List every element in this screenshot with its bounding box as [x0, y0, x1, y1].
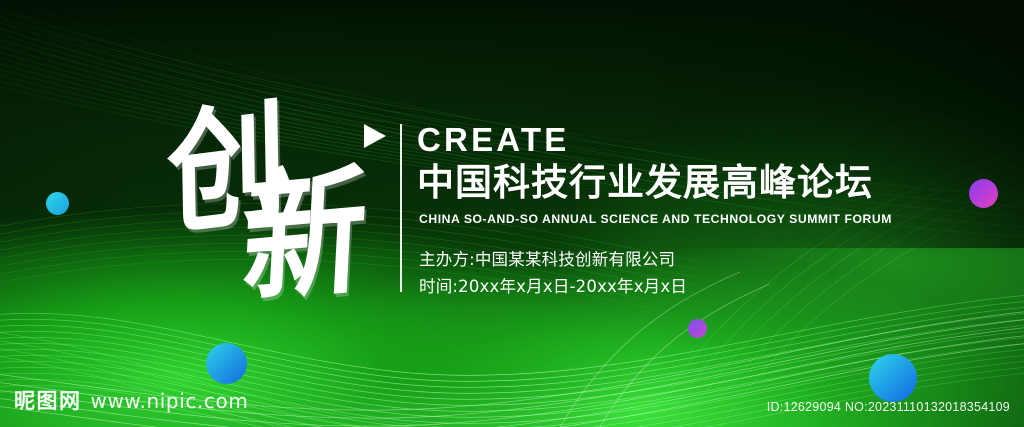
watermark-site-name: 昵图网	[14, 385, 82, 415]
english-subtitle: CHINA SO-AND-SO ANNUAL SCIENCE AND TECHN…	[419, 212, 977, 227]
watermark-url: www.nipic.com	[91, 389, 249, 413]
asset-id-label: ID:12629094 NO:20231110132018354109	[767, 400, 1010, 414]
calligraphy-char-xin: 新	[240, 159, 371, 310]
english-kicker: CREATE	[417, 122, 977, 159]
banner-poster: 创 新 CREATE 中国科技行业发展高峰论坛 CHINA SO-AND-SO …	[0, 0, 1024, 427]
headline-block: CREATE 中国科技行业发展高峰论坛 CHINA SO-AND-SO ANNU…	[417, 122, 977, 300]
calligraphy-logo: 创 新	[168, 104, 388, 304]
watermark: 昵图网 www.nipic.com	[14, 385, 248, 415]
date-line: 时间:20xx年x月x日-20xx年x月x日	[419, 274, 977, 301]
banner-content: 创 新 CREATE 中国科技行业发展高峰论坛 CHINA SO-AND-SO …	[0, 0, 1024, 427]
chinese-title: 中国科技行业发展高峰论坛	[417, 162, 977, 203]
organizer-line: 主办方:中国某某科技创新有限公司	[419, 247, 977, 274]
vertical-divider	[400, 124, 402, 292]
event-details: 主办方:中国某某科技创新有限公司 时间:20xx年x月x日-20xx年x月x日	[419, 247, 977, 300]
play-triangle-icon	[364, 124, 386, 148]
